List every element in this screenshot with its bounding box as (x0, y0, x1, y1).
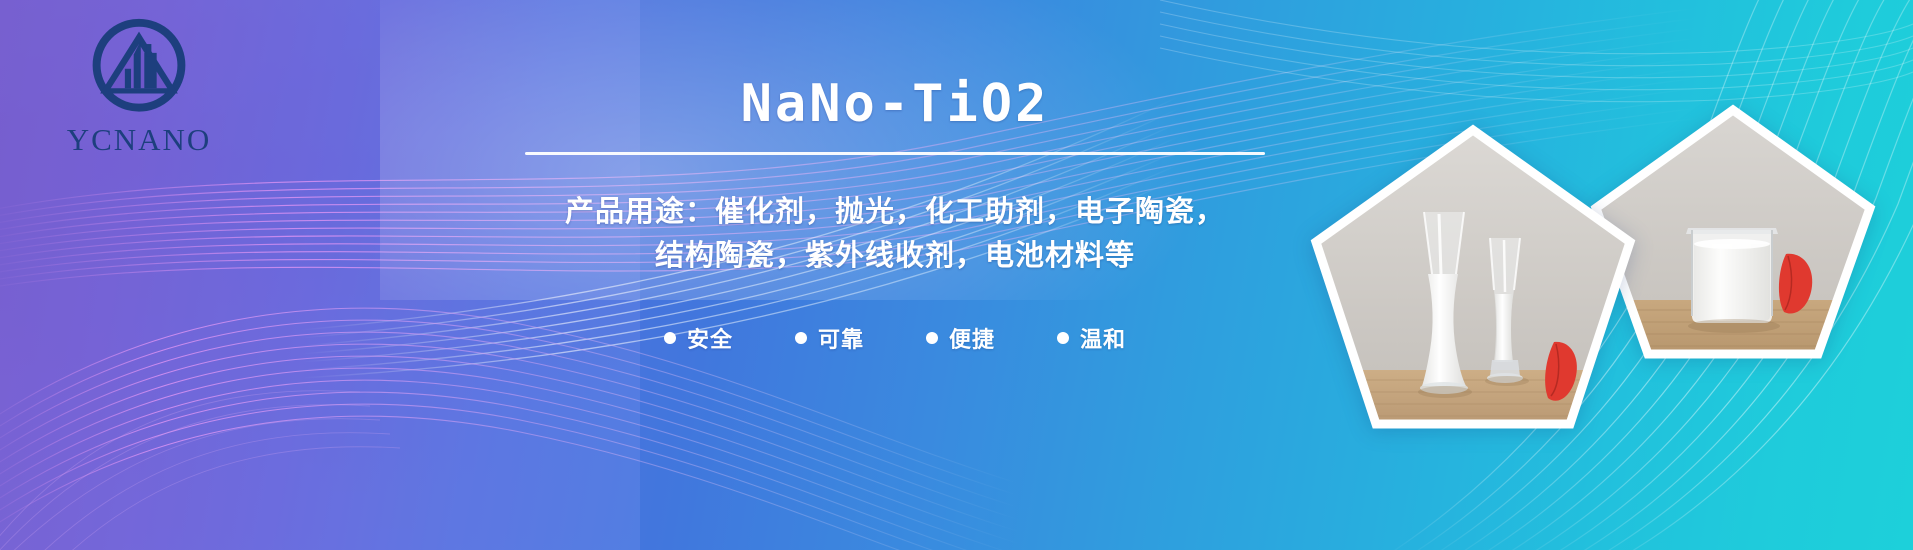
title-divider (525, 152, 1265, 155)
banner-content: NaNo-TiO2 产品用途：催化剂，抛光，化工助剂，电子陶瓷， 结构陶瓷，紫外… (470, 0, 1320, 550)
feature-label: 安全 (687, 322, 733, 354)
usage-line-1: 产品用途：催化剂，抛光，化工助剂，电子陶瓷， (470, 191, 1320, 235)
brand-logo[interactable]: YCNANO (44, 14, 234, 155)
feature-item-safe: 安全 (664, 322, 733, 354)
usage-line-2: 结构陶瓷，紫外线收剂，电池材料等 (470, 235, 1320, 279)
feature-item-convenient: 便捷 (926, 322, 995, 354)
product-photo-vases (1308, 124, 1638, 434)
product-photo-beaker-image (1588, 104, 1878, 364)
ycnano-triangle-logo-icon (86, 14, 192, 120)
feature-item-reliable: 可靠 (795, 322, 864, 354)
page-title: NaNo-TiO2 (470, 78, 1320, 130)
feature-label: 可靠 (818, 322, 864, 354)
product-usage-text: 产品用途：催化剂，抛光，化工助剂，电子陶瓷， 结构陶瓷，紫外线收剂，电池材料等 (470, 191, 1320, 278)
feature-label: 温和 (1080, 322, 1126, 354)
dot-icon (1057, 332, 1069, 344)
product-banner: YCNANO NaNo-TiO2 产品用途：催化剂，抛光，化工助剂，电子陶瓷， … (0, 0, 1913, 550)
dot-icon (664, 332, 676, 344)
product-photo-beaker (1588, 104, 1878, 364)
brand-wordmark: YCNANO (44, 124, 234, 155)
feature-label: 便捷 (949, 322, 995, 354)
feature-item-mild: 温和 (1057, 322, 1126, 354)
dot-icon (926, 332, 938, 344)
feature-list: 安全 可靠 便捷 温和 (470, 322, 1320, 354)
dot-icon (795, 332, 807, 344)
product-photo-vases-image (1308, 124, 1638, 434)
